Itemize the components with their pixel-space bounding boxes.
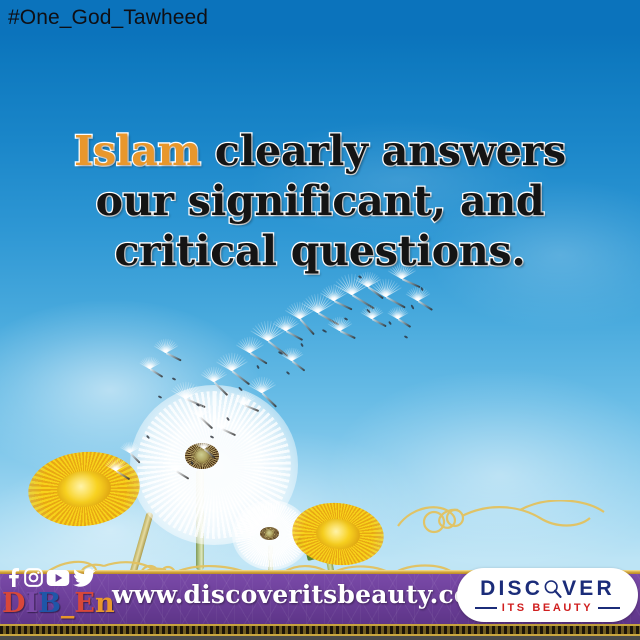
headline-accent-word: Islam (74, 127, 201, 175)
poster-canvas: #One_God_Tawheed Islam clearly answers o… (0, 0, 640, 640)
brand-handle-letter: _ (61, 590, 75, 618)
brand-handle-letter: B (38, 590, 61, 618)
twitter-icon[interactable] (73, 568, 96, 587)
tagline-rule-right (598, 607, 620, 609)
instagram-icon[interactable] (24, 568, 43, 587)
footer-bottom-strip (0, 624, 640, 636)
website-url[interactable]: www.discoveritsbeauty.com (112, 580, 460, 609)
discover-word-before: DISC (480, 577, 543, 600)
dandelion-core-small (260, 527, 279, 540)
headline-line-3: critical questions. (0, 226, 640, 276)
hashtag-text: #One_God_Tawheed (8, 6, 208, 30)
headline-line-1-rest: clearly answers (201, 127, 566, 175)
magnifier-icon (543, 579, 562, 598)
brand-handle[interactable]: DIB_En (2, 590, 115, 618)
footer-base-edge (0, 636, 640, 640)
yellow-dandelion-flower-right (289, 498, 387, 569)
social-icon-row (6, 568, 96, 587)
discover-logo-wordmark: DISCVER (457, 577, 638, 601)
facebook-icon[interactable] (6, 568, 21, 587)
dandelion-core (185, 443, 219, 469)
tagline-rule-left (475, 607, 497, 609)
youtube-icon[interactable] (46, 569, 70, 587)
headline-line-2: our significant, and (0, 176, 640, 226)
brand-handle-letter: I (25, 590, 38, 618)
brand-handle-letter: E (74, 590, 95, 618)
discover-logo-tagline-row: ITS BEAUTY (457, 602, 638, 614)
yellow-dandelion-flower-left (24, 446, 143, 531)
headline-line-1: Islam clearly answers (0, 126, 640, 176)
discover-logo[interactable]: DISCVER ITS BEAUTY (457, 568, 638, 622)
brand-handle-letter: D (2, 590, 25, 618)
headline-block: Islam clearly answers our significant, a… (0, 126, 640, 276)
discover-logo-tagline: ITS BEAUTY (502, 602, 593, 614)
discover-word-after: VER (562, 577, 615, 600)
